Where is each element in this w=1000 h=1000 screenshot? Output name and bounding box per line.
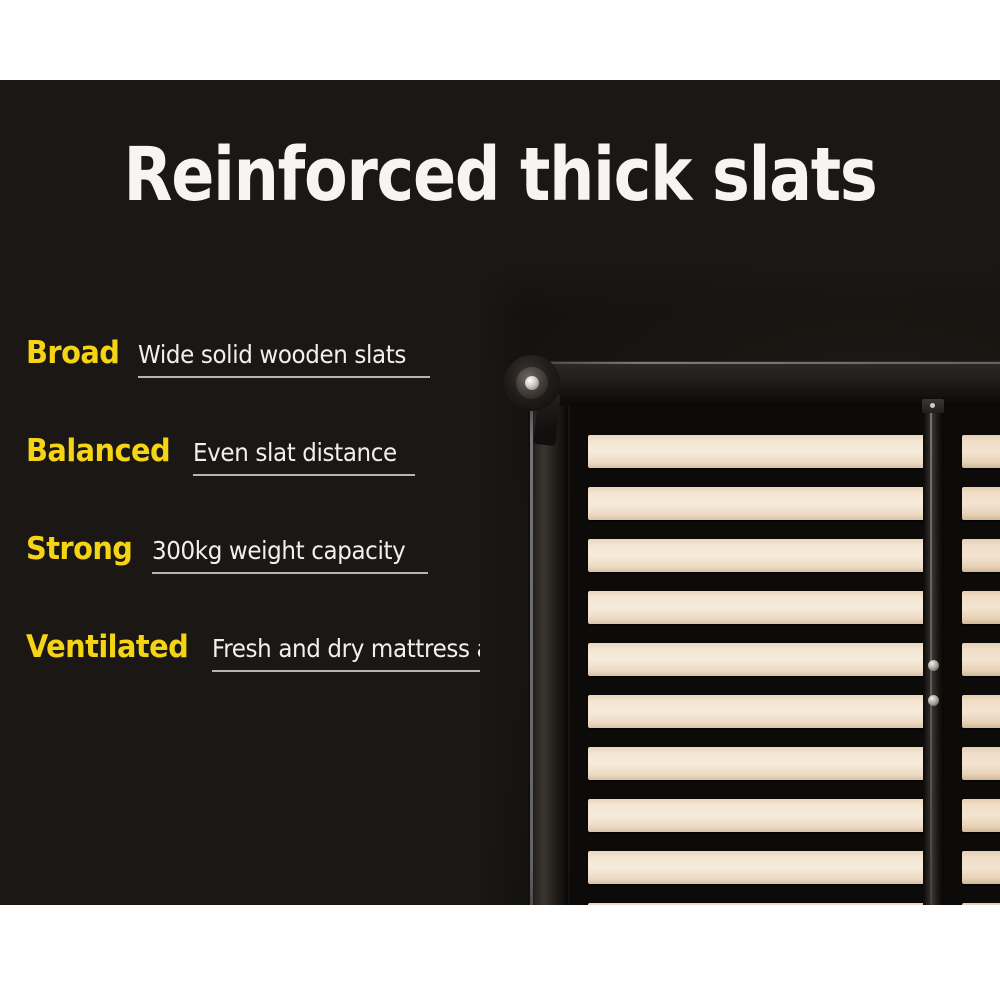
photo-left-fade [480,265,520,905]
wooden-slat [588,747,943,780]
wooden-slat [588,851,943,884]
bottom-white-border [0,905,1000,1000]
wooden-slat [588,487,943,520]
wooden-slat [962,643,1000,676]
top-white-border [0,0,1000,80]
feature-value-underline-broad: Wide solid wooden slats [138,342,429,378]
wooden-slat [588,799,943,832]
corner-bolt-head [525,376,539,390]
wooden-slat [588,539,943,572]
feature-value-broad: Wide solid wooden slats [138,342,406,367]
feature-value-underline-balanced: Even slat distance [193,440,415,476]
feature-key-ventilated: Ventilated [26,632,188,663]
wooden-slat [588,435,943,468]
wooden-slat [588,695,943,728]
feature-key-strong: Strong [26,534,132,565]
center-rail-screw-lower [928,695,939,706]
photo-top-fade [480,265,1000,311]
center-support-rail [923,405,943,905]
center-rail-highlight [930,405,932,905]
wooden-slat [588,643,943,676]
wooden-slat [962,695,1000,728]
center-rail-bracket-dot [930,403,935,408]
dark-panel: Reinforced thick slats Broad Wide solid … [0,80,1000,905]
wooden-slat [962,799,1000,832]
feature-value-underline-strong: 300kg weight capacity [152,538,427,574]
wooden-slat [962,747,1000,780]
feature-key-broad: Broad [26,338,119,369]
wooden-slat [962,851,1000,884]
feature-value-balanced: Even slat distance [193,440,397,465]
product-feature-image: Reinforced thick slats Broad Wide solid … [0,0,1000,1000]
feature-value-strong: 300kg weight capacity [152,538,405,563]
wooden-slat [962,435,1000,468]
page-title: Reinforced thick slats [70,138,930,212]
product-photo [480,265,1000,905]
left-rail-highlight [530,361,533,905]
wooden-slat [962,539,1000,572]
center-rail-screw-upper [928,660,939,671]
wooden-slat [962,591,1000,624]
wooden-slat [962,487,1000,520]
top-rail-highlight [528,362,1000,364]
wooden-slat [588,591,943,624]
feature-key-balanced: Balanced [26,436,170,467]
